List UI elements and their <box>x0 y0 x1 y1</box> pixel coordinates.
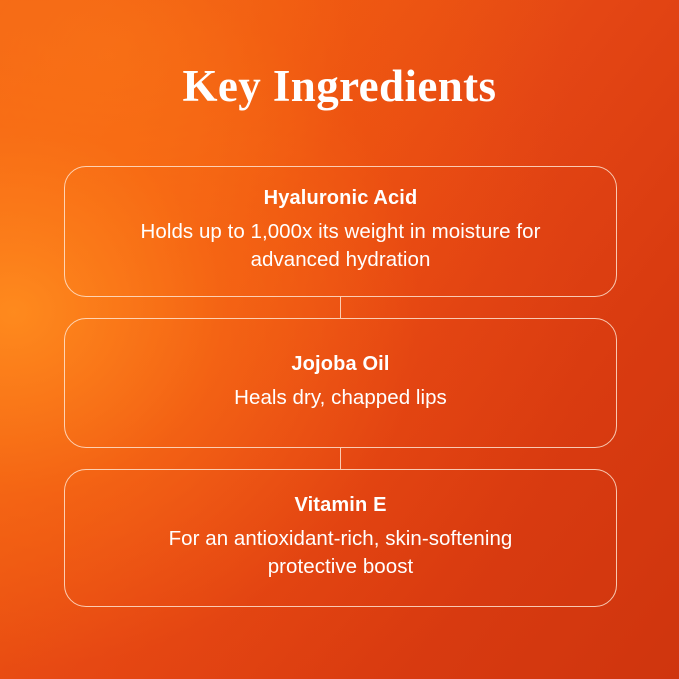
ingredient-card-hyaluronic-acid[interactable]: Hyaluronic Acid Holds up to 1,000x its w… <box>64 166 617 297</box>
ingredient-name: Hyaluronic Acid <box>264 185 418 212</box>
key-ingredients-poster: Key Ingredients Hyaluronic Acid Holds up… <box>0 0 679 679</box>
ingredient-description: Heals dry, chapped lips <box>234 384 447 412</box>
ingredient-description: For an antioxidant-rich, skin-softening … <box>131 525 551 581</box>
card-connector-line-2 <box>64 448 617 469</box>
ingredient-card-jojoba-oil[interactable]: Jojoba Oil Heals dry, chapped lips <box>64 318 617 448</box>
ingredient-card-stack: Hyaluronic Acid Holds up to 1,000x its w… <box>64 166 617 607</box>
card-connector-line-1 <box>64 297 617 318</box>
ingredient-name: Vitamin E <box>294 492 386 519</box>
ingredient-description: Holds up to 1,000x its weight in moistur… <box>131 218 551 274</box>
ingredient-card-vitamin-e[interactable]: Vitamin E For an antioxidant-rich, skin-… <box>64 469 617 607</box>
page-title: Key Ingredients <box>183 58 497 114</box>
ingredient-name: Jojoba Oil <box>291 351 389 378</box>
title-container: Key Ingredients <box>0 58 679 114</box>
